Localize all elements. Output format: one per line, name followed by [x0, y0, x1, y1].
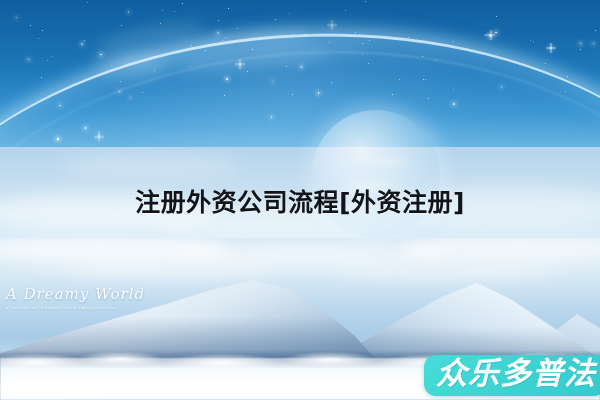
star: [226, 78, 228, 80]
star: [428, 98, 429, 99]
star: [41, 77, 42, 78]
star: [399, 79, 400, 80]
sky-cloud: [60, 260, 280, 278]
star: [30, 25, 31, 26]
star: [271, 116, 273, 118]
star: [289, 13, 290, 14]
star: [595, 30, 596, 31]
star: [593, 43, 595, 45]
star: [530, 40, 531, 41]
star: [318, 92, 320, 94]
star: [225, 37, 226, 38]
star: [292, 94, 293, 95]
star: [453, 89, 454, 90]
star: [57, 138, 59, 140]
star: [41, 93, 42, 94]
star: [495, 32, 497, 34]
star: [425, 79, 426, 80]
star: [160, 23, 161, 24]
star: [191, 45, 192, 46]
star: [71, 86, 72, 87]
star: [120, 81, 121, 82]
sky-cloud: [330, 264, 560, 280]
star: [162, 10, 163, 11]
star: [228, 8, 229, 9]
moon-sphere: [312, 110, 440, 238]
star: [52, 56, 53, 57]
star: [545, 63, 546, 64]
watermark-left: A Dreamy World a world of dreams and ima…: [6, 286, 145, 310]
star: [362, 43, 363, 44]
star: [84, 40, 85, 41]
star: [369, 40, 370, 41]
star: [489, 34, 491, 36]
star: [362, 54, 363, 55]
star: [217, 32, 219, 34]
star: [222, 40, 223, 41]
star: [81, 43, 83, 45]
star: [130, 97, 132, 99]
star: [345, 10, 346, 11]
star: [453, 103, 455, 105]
star: [85, 127, 87, 129]
band-cloud: [60, 155, 240, 177]
star: [567, 76, 568, 77]
star: [436, 59, 437, 60]
star: [28, 59, 30, 61]
space-sky-background: [0, 0, 600, 147]
star: [550, 47, 552, 49]
star: [286, 66, 287, 67]
star: [484, 35, 485, 36]
star: [580, 49, 581, 50]
star: [38, 38, 39, 39]
star: [47, 60, 48, 61]
star: [252, 49, 253, 50]
star: [331, 24, 333, 26]
sky-cloud: [400, 238, 600, 266]
star: [392, 94, 393, 95]
star: [81, 82, 82, 83]
watermark-left-subtitle: a world of dreams and imagination: [6, 306, 145, 310]
star: [85, 77, 86, 78]
banner-image: 注册外资公司流程[外资注册] A Dreamy World a world of…: [0, 0, 600, 400]
star: [275, 19, 276, 20]
star: [272, 81, 274, 83]
star: [142, 92, 143, 93]
star: [218, 20, 219, 21]
star: [355, 32, 356, 33]
page-title: 注册外资公司流程[外资注册]: [0, 190, 600, 215]
star: [580, 43, 582, 45]
star: [224, 95, 225, 96]
star: [87, 2, 88, 3]
star: [59, 105, 61, 107]
star: [301, 66, 303, 68]
star: [422, 56, 423, 57]
watermark-left-text: A Dreamy World: [6, 286, 145, 303]
star: [154, 70, 155, 71]
star: [565, 91, 566, 92]
star: [205, 50, 206, 51]
star: [329, 42, 330, 43]
star: [537, 69, 538, 70]
star: [121, 25, 122, 26]
starfield: [0, 0, 600, 147]
star: [42, 30, 43, 31]
star: [365, 1, 366, 2]
star: [331, 82, 332, 83]
star: [16, 17, 18, 19]
star: [496, 16, 497, 17]
star: [182, 3, 183, 4]
star: [247, 71, 248, 72]
star: [501, 86, 503, 88]
star: [368, 63, 369, 64]
watermark-right-text: 众乐多普法: [436, 358, 596, 391]
star: [190, 66, 191, 67]
watermark-right-badge: 众乐多普法: [424, 355, 600, 396]
star: [453, 41, 454, 42]
star: [408, 37, 409, 38]
star: [237, 28, 238, 29]
star: [119, 91, 121, 93]
star: [239, 63, 241, 65]
star: [128, 11, 130, 13]
star: [100, 54, 102, 56]
star: [533, 41, 534, 42]
star: [174, 11, 175, 12]
star: [98, 135, 100, 137]
